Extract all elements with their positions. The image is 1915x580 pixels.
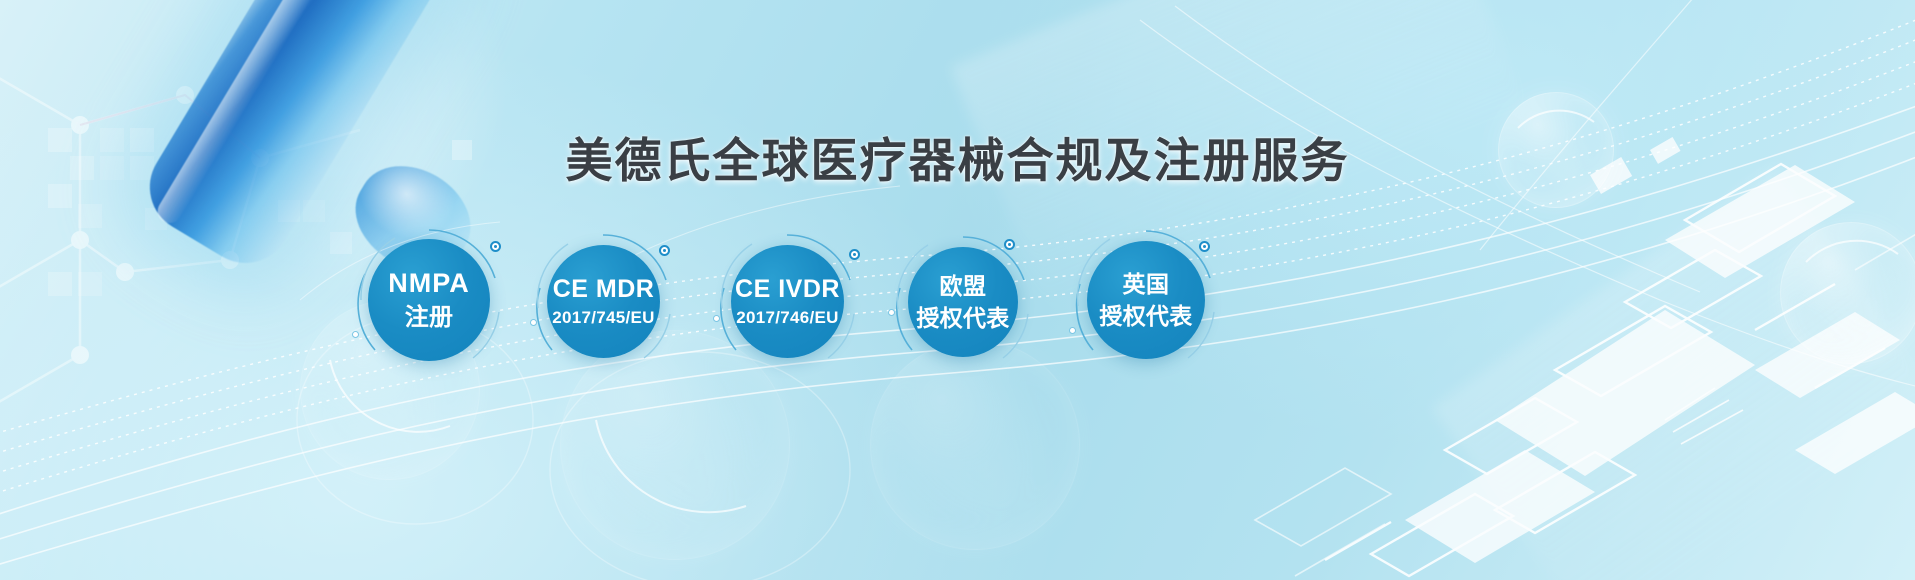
badge-disc[interactable]: CE MDR 2017/745/EU <box>547 245 660 358</box>
badge-dot <box>1004 239 1015 250</box>
badge-ce-mdr[interactable]: CE MDR 2017/745/EU <box>547 245 660 358</box>
badge-dot <box>713 315 720 322</box>
badge-dot <box>849 249 860 260</box>
badge-disc[interactable]: 欧盟 授权代表 <box>908 247 1018 357</box>
badge-uk-authorized-rep[interactable]: 英国 授权代表 <box>1087 241 1205 359</box>
badge-line1: NMPA <box>388 267 470 300</box>
badge-dot <box>659 245 670 256</box>
badge-disc[interactable]: 英国 授权代表 <box>1087 241 1205 359</box>
banner-root: 美德氏全球医疗器械合规及注册服务 NMPA 注册 <box>0 0 1915 580</box>
badge-line2: 授权代表 <box>916 304 1009 332</box>
badge-dot <box>1069 327 1076 334</box>
badge-line2: 授权代表 <box>1099 302 1192 330</box>
badge-group: NMPA 注册 CE MDR 2017/745/EU <box>0 0 1915 580</box>
badge-line1: 欧盟 <box>940 272 987 300</box>
badge-dot <box>352 331 359 338</box>
badge-dot <box>530 319 537 326</box>
badge-ce-ivdr[interactable]: CE IVDR 2017/746/EU <box>731 245 844 358</box>
badge-line1: 英国 <box>1123 270 1170 298</box>
badge-eu-authorized-rep[interactable]: 欧盟 授权代表 <box>908 247 1018 357</box>
badge-line1: CE MDR <box>553 274 655 305</box>
badge-line2: 2017/746/EU <box>736 308 839 329</box>
badge-line2: 注册 <box>405 303 454 332</box>
badge-disc[interactable]: CE IVDR 2017/746/EU <box>731 245 844 358</box>
badge-disc[interactable]: NMPA 注册 <box>368 239 490 361</box>
badge-dot <box>490 241 501 252</box>
badge-line2: 2017/745/EU <box>552 308 655 329</box>
badge-dot <box>1199 241 1210 252</box>
badge-nmpa[interactable]: NMPA 注册 <box>368 239 490 361</box>
badge-dot <box>888 309 895 316</box>
badge-line1: CE IVDR <box>735 274 840 305</box>
